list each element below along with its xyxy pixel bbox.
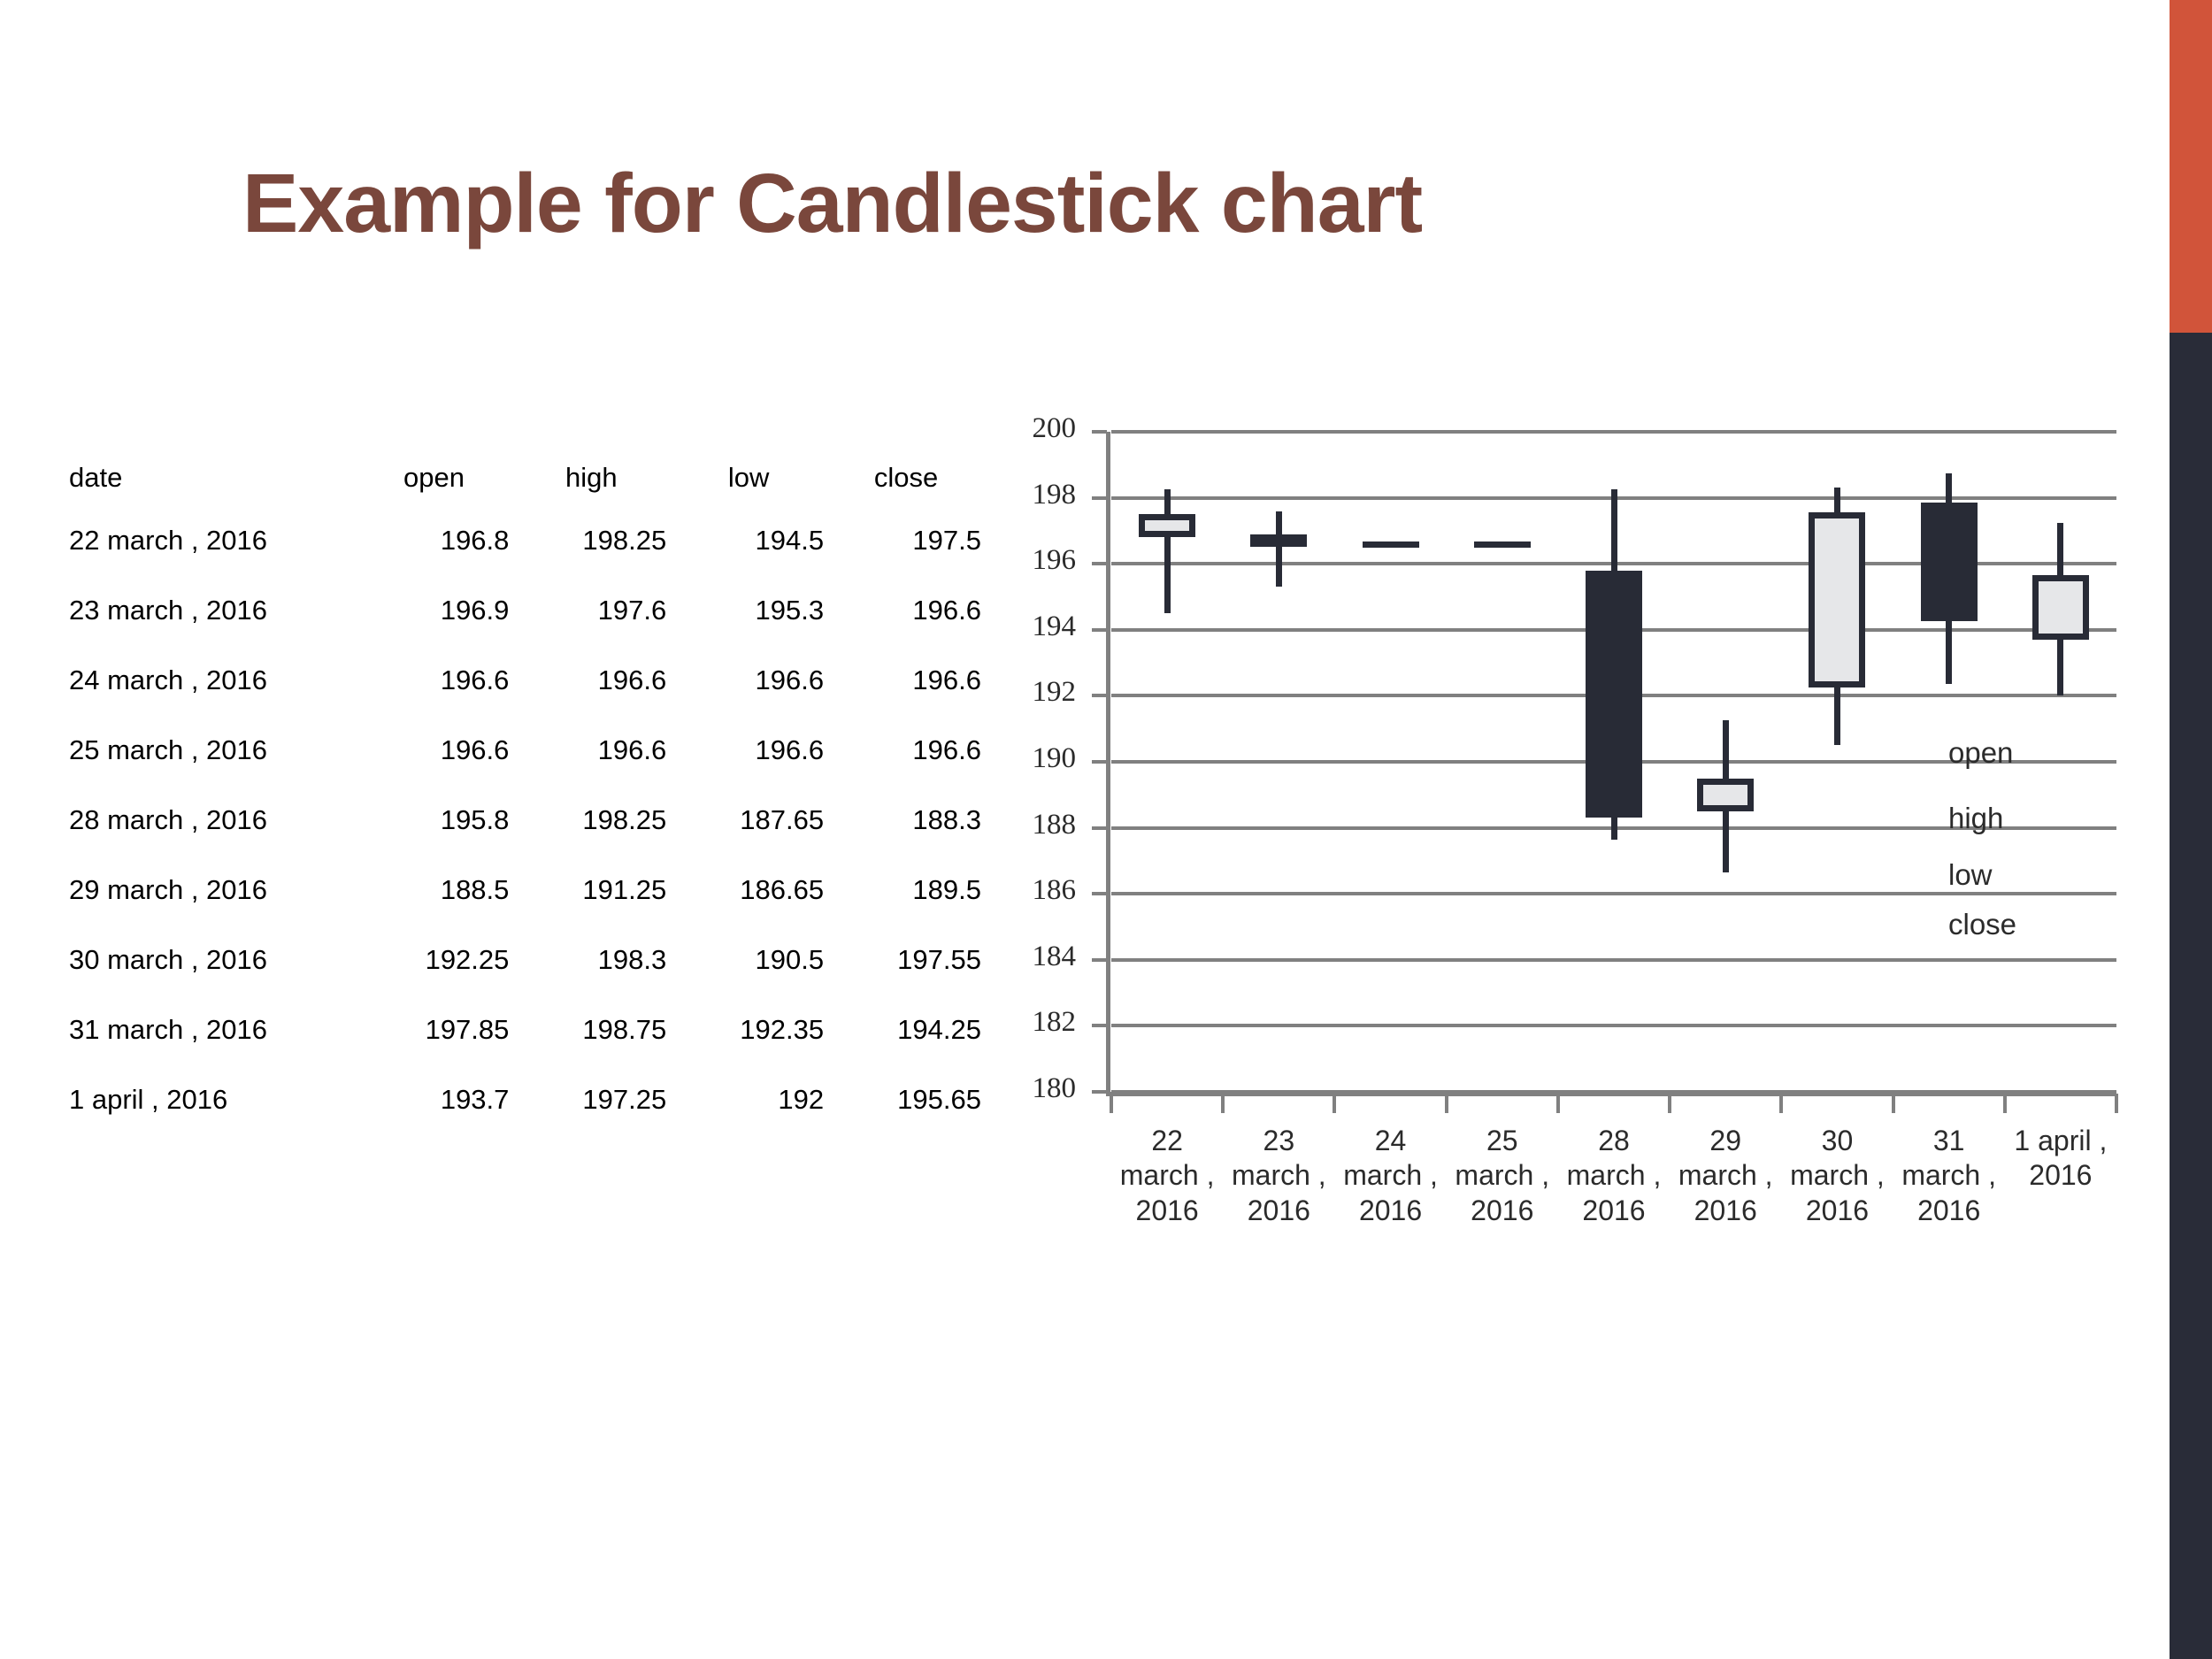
- gridline: [1111, 430, 2116, 434]
- column-header-low: low: [670, 449, 827, 506]
- candle-body: [1474, 541, 1531, 548]
- y-tick-mark: [1092, 826, 1107, 830]
- x-axis-tick-label-line: 2016: [1883, 1194, 2016, 1228]
- x-tick-mark: [1779, 1094, 1783, 1113]
- y-tick-mark: [1092, 562, 1107, 565]
- cell-low: 196.6: [670, 716, 827, 786]
- cell-date: 31 march , 2016: [69, 995, 356, 1065]
- y-tick-mark: [1092, 496, 1107, 500]
- candle-wick: [1164, 489, 1171, 613]
- column-header-close: close: [827, 449, 985, 506]
- cell-low: 186.65: [670, 856, 827, 926]
- table-row: 23 march , 2016196.9197.6195.3196.6: [69, 576, 985, 646]
- gridline: [1111, 1090, 2116, 1094]
- column-header-open: open: [356, 449, 513, 506]
- cell-open: 196.6: [356, 646, 513, 716]
- candle-wick: [1276, 511, 1282, 588]
- x-tick-mark: [1668, 1094, 1671, 1113]
- legend-item-close: close: [1948, 908, 2016, 941]
- y-tick-mark: [1092, 430, 1107, 434]
- table-row: 29 march , 2016188.5191.25186.65189.5: [69, 856, 985, 926]
- cell-low: 194.5: [670, 506, 827, 576]
- cell-open: 195.8: [356, 786, 513, 856]
- cell-open: 197.85: [356, 995, 513, 1065]
- table-row: 24 march , 2016196.6196.6196.6196.6: [69, 646, 985, 716]
- cell-low: 192.35: [670, 995, 827, 1065]
- cell-close: 197.5: [827, 506, 985, 576]
- legend-item-low: low: [1948, 858, 1993, 892]
- x-axis-tick-label-line: 2016: [1994, 1158, 2127, 1193]
- x-tick-mark: [1110, 1094, 1113, 1113]
- cell-low: 187.65: [670, 786, 827, 856]
- cell-date: 25 march , 2016: [69, 716, 356, 786]
- cell-low: 190.5: [670, 926, 827, 995]
- y-axis-tick-label: 192: [979, 676, 1076, 709]
- x-axis-tick-label: 1 april ,2016: [1994, 1124, 2127, 1194]
- y-axis-tick-label: 180: [979, 1072, 1076, 1105]
- table-row: 1 april , 2016193.7197.25192195.65: [69, 1065, 985, 1135]
- column-header-date: date: [69, 449, 356, 506]
- candle-body: [1363, 541, 1419, 548]
- cell-high: 198.25: [512, 506, 670, 576]
- cell-open: 192.25: [356, 926, 513, 995]
- y-tick-mark: [1092, 760, 1107, 764]
- y-axis-tick-label: 190: [979, 742, 1076, 775]
- cell-close: 196.6: [827, 646, 985, 716]
- cell-close: 197.55: [827, 926, 985, 995]
- cell-high: 196.6: [512, 716, 670, 786]
- candle-body: [1139, 514, 1195, 537]
- ohlc-data-table: date open high low close 22 march , 2016…: [69, 449, 985, 1135]
- cell-high: 196.6: [512, 646, 670, 716]
- cell-open: 193.7: [356, 1065, 513, 1135]
- cell-date: 23 march , 2016: [69, 576, 356, 646]
- column-header-high: high: [512, 449, 670, 506]
- cell-date: 28 march , 2016: [69, 786, 356, 856]
- candle-body: [1697, 779, 1754, 811]
- cell-date: 22 march , 2016: [69, 506, 356, 576]
- cell-high: 191.25: [512, 856, 670, 926]
- cell-open: 196.9: [356, 576, 513, 646]
- candlestick-chart: 200198196194192190188186184182180 22marc…: [1026, 414, 2141, 1219]
- candle-body: [1809, 512, 1865, 687]
- candle-body: [1586, 571, 1642, 818]
- gridline: [1111, 1024, 2116, 1027]
- cell-close: 189.5: [827, 856, 985, 926]
- cell-open: 196.8: [356, 506, 513, 576]
- cell-low: 192: [670, 1065, 827, 1135]
- cell-date: 29 march , 2016: [69, 856, 356, 926]
- page-title: Example for Candlestick chart: [242, 156, 1422, 252]
- y-axis-tick-label: 186: [979, 874, 1076, 907]
- y-axis-tick-label: 196: [979, 544, 1076, 577]
- cell-date: 1 april , 2016: [69, 1065, 356, 1135]
- cell-close: 196.6: [827, 716, 985, 786]
- y-axis-tick-label: 182: [979, 1006, 1076, 1039]
- cell-close: 195.65: [827, 1065, 985, 1135]
- y-axis-tick-label: 184: [979, 941, 1076, 973]
- y-axis-tick-label: 194: [979, 611, 1076, 643]
- cell-high: 198.3: [512, 926, 670, 995]
- cell-close: 188.3: [827, 786, 985, 856]
- y-tick-mark: [1092, 892, 1107, 895]
- y-tick-mark: [1092, 1024, 1107, 1027]
- x-tick-mark: [2003, 1094, 2007, 1113]
- candle-body: [1250, 534, 1307, 547]
- cell-open: 196.6: [356, 716, 513, 786]
- y-tick-mark: [1092, 1090, 1107, 1094]
- y-tick-mark: [1092, 628, 1107, 632]
- cell-high: 198.25: [512, 786, 670, 856]
- table-header-row: date open high low close: [69, 449, 985, 506]
- x-tick-mark: [2115, 1094, 2118, 1113]
- x-tick-mark: [1221, 1094, 1225, 1113]
- x-tick-mark: [1333, 1094, 1336, 1113]
- cell-high: 197.25: [512, 1065, 670, 1135]
- cell-date: 24 march , 2016: [69, 646, 356, 716]
- y-tick-mark: [1092, 694, 1107, 697]
- cell-date: 30 march , 2016: [69, 926, 356, 995]
- cell-open: 188.5: [356, 856, 513, 926]
- y-axis-line: [1106, 432, 1110, 1095]
- y-axis-tick-label: 200: [979, 412, 1076, 445]
- y-axis-tick-label: 198: [979, 479, 1076, 511]
- accent-bar-top: [2170, 0, 2212, 333]
- table-row: 30 march , 2016192.25198.3190.5197.55: [69, 926, 985, 995]
- table-row: 25 march , 2016196.6196.6196.6196.6: [69, 716, 985, 786]
- cell-low: 195.3: [670, 576, 827, 646]
- cell-high: 197.6: [512, 576, 670, 646]
- gridline: [1111, 958, 2116, 962]
- x-tick-mark: [1892, 1094, 1895, 1113]
- legend-item-high: high: [1948, 802, 2003, 835]
- accent-bar-bottom: [2170, 333, 2212, 1659]
- candle-body: [1921, 503, 1978, 621]
- legend-item-open: open: [1948, 736, 2013, 770]
- cell-low: 196.6: [670, 646, 827, 716]
- x-tick-mark: [1556, 1094, 1560, 1113]
- cell-close: 196.6: [827, 576, 985, 646]
- x-axis-tick-label-line: 1 april ,: [1994, 1124, 2127, 1158]
- cell-high: 198.75: [512, 995, 670, 1065]
- table-row: 31 march , 2016197.85198.75192.35194.25: [69, 995, 985, 1065]
- candle-body: [2032, 575, 2089, 640]
- cell-close: 194.25: [827, 995, 985, 1065]
- gridline: [1111, 892, 2116, 895]
- table-row: 22 march , 2016196.8198.25194.5197.5: [69, 506, 985, 576]
- y-axis-tick-label: 188: [979, 809, 1076, 841]
- table-row: 28 march , 2016195.8198.25187.65188.3: [69, 786, 985, 856]
- y-tick-mark: [1092, 958, 1107, 962]
- x-tick-mark: [1445, 1094, 1448, 1113]
- chart-plot-area: 200198196194192190188186184182180 22marc…: [1111, 432, 2116, 1092]
